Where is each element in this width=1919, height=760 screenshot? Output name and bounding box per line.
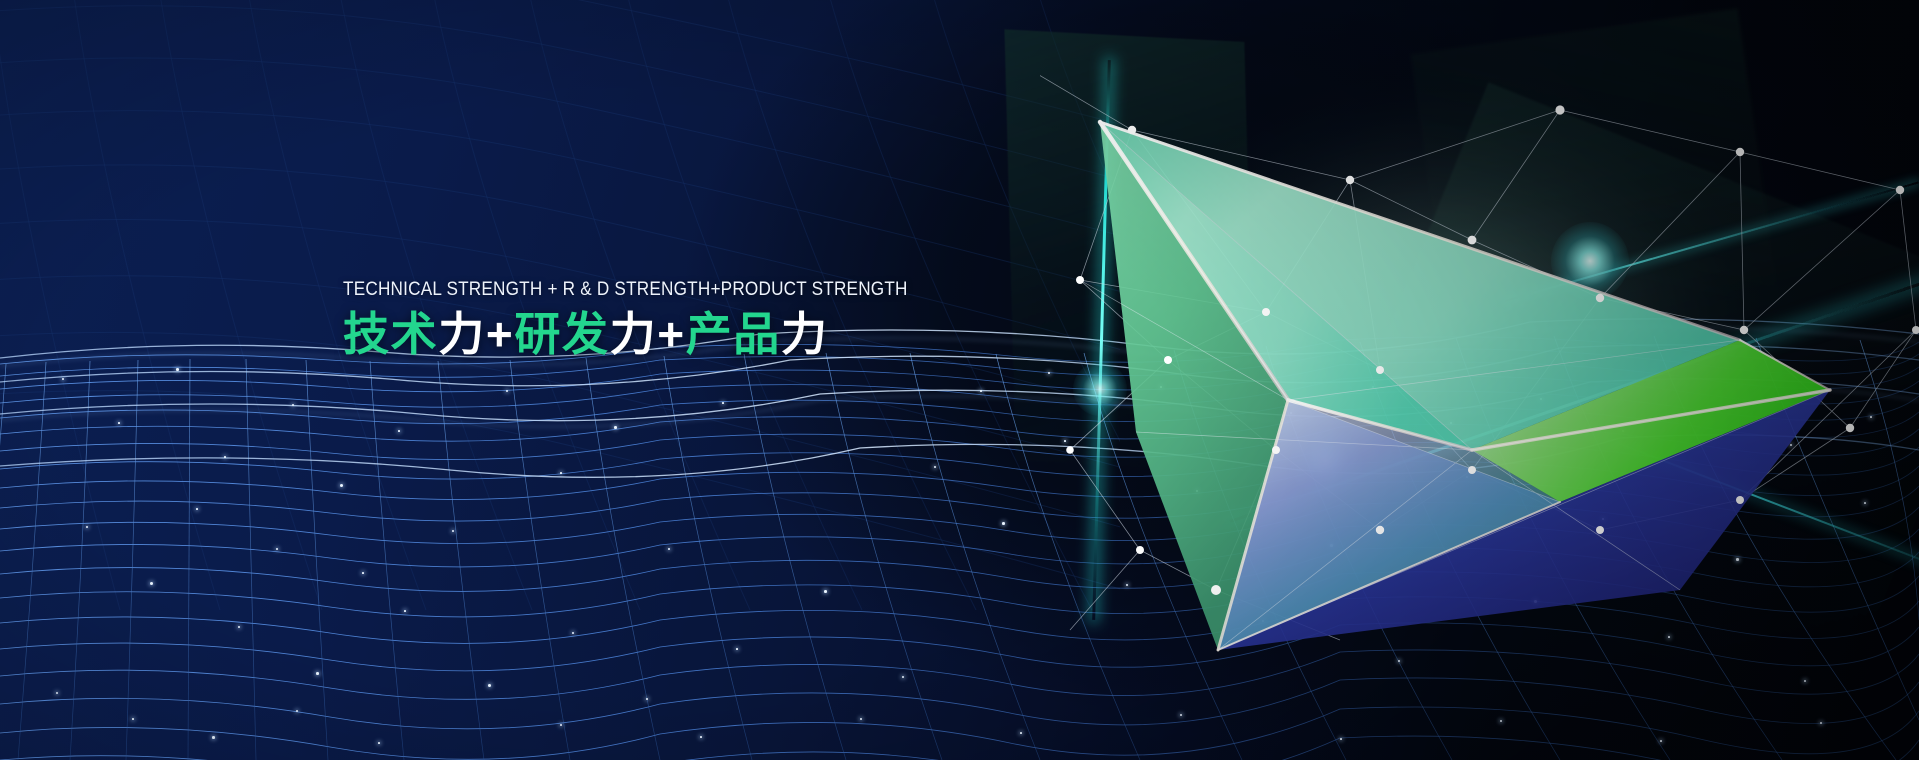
page-title: 技术力+研发力+产品力 bbox=[343, 309, 1043, 361]
headline-segment-0: 技术 bbox=[343, 308, 438, 360]
headline-segment-7: 力 bbox=[781, 308, 829, 360]
eyebrow-text: TECHNICAL STRENGTH + R & D STRENGTH+PROD… bbox=[343, 279, 959, 300]
headline-segment-3: 研发 bbox=[514, 308, 609, 360]
headline-segment-6: 产品 bbox=[686, 308, 781, 360]
dark-slab-left bbox=[1004, 29, 1255, 472]
headline-segment-4: 力 bbox=[610, 308, 658, 360]
hero-banner: TECHNICAL STRENGTH + R & D STRENGTH+PROD… bbox=[0, 0, 1919, 760]
headline-segment-5: + bbox=[657, 308, 685, 360]
dark-slab-right bbox=[1312, 82, 1919, 728]
headline-segment-1: 力 bbox=[438, 308, 486, 360]
headline-segment-2: + bbox=[486, 308, 514, 360]
headline-block: TECHNICAL STRENGTH + R & D STRENGTH+PROD… bbox=[343, 279, 1043, 361]
